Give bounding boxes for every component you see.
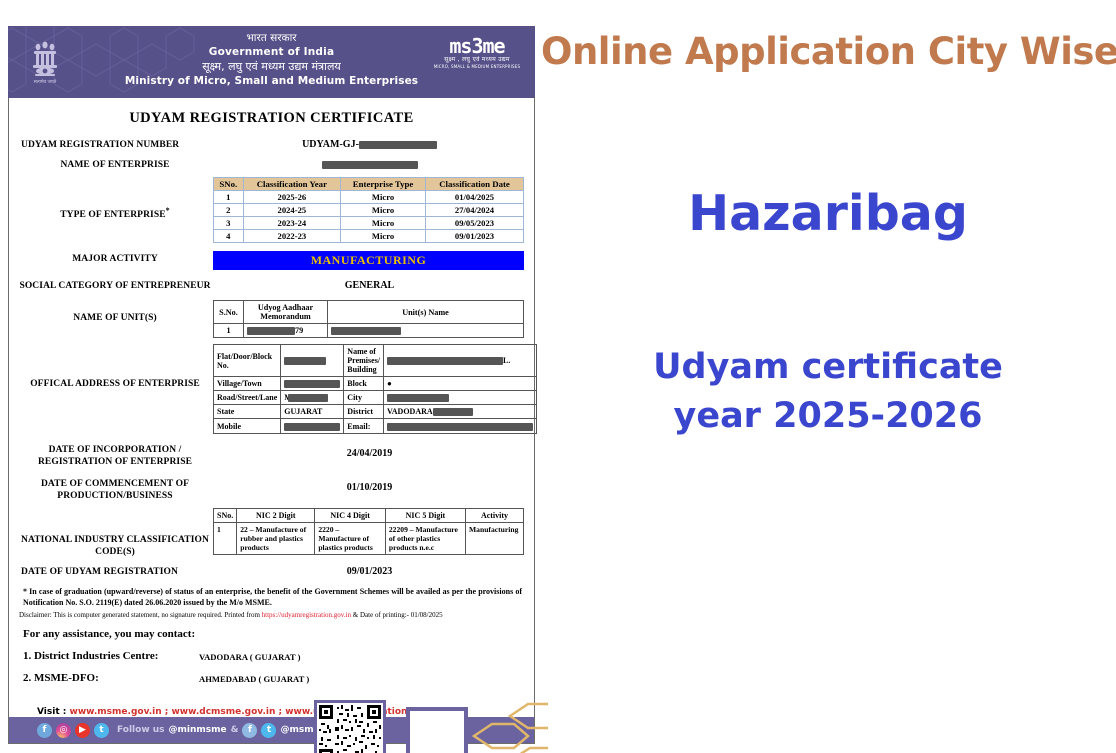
- field-date-incorporation: DATE OF INCORPORATION / REGISTRATION OF …: [17, 442, 526, 468]
- promo-panel: Online Application City Wise Hazaribag U…: [540, 0, 1116, 753]
- field-nic-codes: NATIONAL INDUSTRY CLASSIFICATION CODE(S)…: [17, 508, 526, 558]
- assistance-heading: For any assistance, you may contact:: [17, 620, 526, 640]
- name-of-enterprise-value: [213, 157, 526, 170]
- visit-link-2[interactable]: www.dcmsme.gov.in: [171, 707, 275, 717]
- col-nic-4: NIC 4 Digit: [315, 508, 386, 522]
- ampersand-text: &: [231, 725, 239, 735]
- redacted-value: [288, 394, 328, 402]
- col-unit-name: Unit(s) Name: [328, 301, 524, 324]
- visit-sep-2: ;: [275, 707, 285, 717]
- registration-number-label: UDYAM REGISTRATION NUMBER: [17, 137, 213, 151]
- address-table-wrap: Flat/Door/Block No. Name of Premises/ Bu…: [213, 344, 539, 433]
- social-category-value: GENERAL: [213, 278, 526, 291]
- table-row: 3 2023-24 Micro 09/05/2023: [214, 217, 524, 230]
- field-major-activity: MAJOR ACTIVITY MANUFACTURING: [17, 251, 526, 270]
- youtube-icon[interactable]: ▶: [75, 723, 90, 738]
- contact-dfo-label: 2. MSME-DFO:: [23, 672, 199, 684]
- col-sno: SNo.: [214, 508, 237, 522]
- gold-hexagon-decoration: [466, 702, 548, 753]
- field-name-of-units: NAME OF UNIT(S) S.No. Udyog Aadhaar Memo…: [17, 300, 526, 338]
- name-of-enterprise-label: NAME OF ENTERPRISE: [17, 157, 213, 171]
- date-udyam-registration-label: DATE OF UDYAM REGISTRATION: [17, 564, 213, 578]
- redacted-value: [322, 161, 418, 169]
- table-header-row: S.No. Udyog Aadhaar Memorandum Unit(s) N…: [214, 301, 524, 324]
- promo-subtitle-line-1: Udyam certificate: [540, 343, 1116, 392]
- cell-sno: 1: [214, 324, 244, 338]
- field-name-of-enterprise: NAME OF ENTERPRISE: [17, 157, 526, 171]
- page-root: सत्यमेव जयते भारत सरकार Government of In…: [0, 0, 1116, 753]
- udyam-certificate: सत्यमेव जयते भारत सरकार Government of In…: [8, 26, 535, 744]
- cell-sno: 1: [214, 522, 237, 554]
- msme-logo-hindi: सूक्ष्म , लघु एवं मध्यम उद्यम: [431, 56, 523, 64]
- redacted-value: [331, 327, 401, 335]
- cell-sno: 3: [214, 217, 244, 230]
- redacted-value: [284, 380, 340, 388]
- qr-code-icon: [317, 703, 383, 753]
- visit-prefix: Visit :: [37, 707, 70, 717]
- redacted-value: [433, 408, 473, 416]
- col-sno: S.No.: [214, 301, 244, 324]
- cell-uam: 79: [244, 324, 328, 338]
- promo-subtitle-line-2: year 2025-2026: [540, 392, 1116, 441]
- msme-logo-glyph: ms3me: [431, 36, 523, 56]
- disclaimer-suffix: & Date of printing:- 01/08/2025: [351, 611, 443, 619]
- addr-key-road: Road/Street/Lane: [214, 391, 281, 405]
- table-row: State GUJARAT District VADODARA - 45: [214, 405, 537, 419]
- facebook-icon[interactable]: f: [37, 723, 52, 738]
- col-nic-5: NIC 5 Digit: [385, 508, 465, 522]
- social-category-label: SOCIAL CATEGORY OF ENTREPRENEUR: [17, 278, 213, 292]
- cell-date: 27/04/2024: [426, 204, 524, 217]
- msme-logo-english: MICRO, SMALL & MEDIUM ENTERPRISES: [431, 64, 523, 70]
- facebook-icon[interactable]: f: [242, 723, 257, 738]
- field-type-of-enterprise: TYPE OF ENTERPRISE* SNo. Classification …: [17, 177, 526, 243]
- official-address-label: OFFICAL ADDRESS OF ENTERPRISE: [17, 344, 213, 390]
- cell-date: 01/04/2025: [426, 191, 524, 204]
- addr-key-mobile: Mobile: [214, 419, 281, 433]
- addr-key-flat: Flat/Door/Block No.: [214, 345, 281, 377]
- disclaimer-prefix: Disclaimer: This is computer generated s…: [19, 611, 262, 619]
- addr-key-state: State: [214, 405, 281, 419]
- table-row: Village/Town Block ●: [214, 377, 537, 391]
- table-row: Mobile Email:: [214, 419, 537, 433]
- twitter-icon[interactable]: t: [261, 723, 276, 738]
- table-row: Flat/Door/Block No. Name of Premises/ Bu…: [214, 345, 537, 377]
- field-date-commencement: DATE OF COMMENCEMENT OF PRODUCTION/BUSIN…: [17, 476, 526, 502]
- visit-link-1[interactable]: www.msme.gov.in: [70, 707, 162, 717]
- redacted-value: [284, 357, 326, 365]
- asterisk-marker: *: [166, 206, 170, 215]
- col-activity: Activity: [466, 508, 524, 522]
- visit-sep-1: ;: [162, 707, 172, 717]
- cell-sno: 4: [214, 230, 244, 243]
- name-of-units-label: NAME OF UNIT(S): [17, 300, 213, 324]
- promo-subtitle: Udyam certificate year 2025-2026: [540, 343, 1116, 441]
- field-date-udyam-registration: DATE OF UDYAM REGISTRATION 09/01/2023: [17, 564, 526, 578]
- contact-dfo-value: AHMEDABAD ( GUJARAT ): [199, 672, 309, 684]
- date-commencement-label: DATE OF COMMENCEMENT OF PRODUCTION/BUSIN…: [17, 476, 213, 502]
- table-row: 1 79: [214, 324, 524, 338]
- addr-val-village: [281, 377, 344, 391]
- follow-us-text: Follow us: [117, 725, 165, 735]
- cell-type: Micro: [341, 230, 426, 243]
- contact-dic: 1. District Industries Centre: VADODARA …: [17, 640, 526, 662]
- addr-key-city: City: [344, 391, 384, 405]
- address-table: Flat/Door/Block No. Name of Premises/ Bu…: [213, 344, 537, 433]
- cell-nic-5: 22209 – Manufacture of other plastics pr…: [385, 522, 465, 554]
- addr-val-city: [384, 391, 537, 405]
- cell-nic-2: 22 – Manufacture of rubber and plastics …: [237, 522, 315, 554]
- cell-type: Micro: [341, 204, 426, 217]
- redacted-value: [387, 394, 449, 402]
- cell-date: 09/05/2023: [426, 217, 524, 230]
- col-enterprise-type: Enterprise Type: [341, 178, 426, 191]
- classification-table-wrap: SNo. Classification Year Enterprise Type…: [213, 177, 526, 243]
- major-activity-label: MAJOR ACTIVITY: [17, 251, 213, 265]
- addr-val-premises: L.: [384, 345, 537, 377]
- type-of-enterprise-label: TYPE OF ENTERPRISE*: [17, 177, 213, 221]
- cell-type: Micro: [341, 191, 426, 204]
- table-header-row: SNo. NIC 2 Digit NIC 4 Digit NIC 5 Digit…: [214, 508, 524, 522]
- redacted-value: [284, 423, 340, 431]
- table-row: 1 22 – Manufacture of rubber and plastic…: [214, 522, 524, 554]
- date-udyam-registration-value: 09/01/2023: [213, 564, 526, 577]
- field-registration-number: UDYAM REGISTRATION NUMBER UDYAM-GJ-: [17, 137, 526, 151]
- addr-key-district: District: [344, 405, 384, 419]
- table-row: 1 2025-26 Micro 01/04/2025: [214, 191, 524, 204]
- cell-sno: 2: [214, 204, 244, 217]
- col-uam: Udyog Aadhaar Memorandum: [244, 301, 328, 324]
- disclaimer-link[interactable]: https://udyamregistration.gov.in: [262, 611, 351, 619]
- cell-date: 09/01/2023: [426, 230, 524, 243]
- cell-year: 2022-23: [243, 230, 341, 243]
- disclaimer-text: Disclaimer: This is computer generated s…: [17, 608, 526, 620]
- redacted-value: [359, 141, 437, 149]
- addr-val-road: M D: [281, 391, 344, 405]
- cell-sno: 1: [214, 191, 244, 204]
- date-incorporation-value: 24/04/2019: [213, 442, 526, 459]
- qr-code[interactable]: [314, 700, 386, 753]
- cell-year: 2024-25: [243, 204, 341, 217]
- addr-val-flat: [281, 345, 344, 377]
- certificate-header-band: सत्यमेव जयते भारत सरकार Government of In…: [8, 26, 535, 98]
- certificate-title: UDYAM REGISTRATION CERTIFICATE: [17, 110, 526, 127]
- msme-logo: ms3me सूक्ष्म , लघु एवं मध्यम उद्यम MICR…: [431, 36, 523, 70]
- field-official-address: OFFICAL ADDRESS OF ENTERPRISE Flat/Door/…: [17, 344, 526, 433]
- handle-minmsme[interactable]: @minmsme: [169, 725, 227, 735]
- table-row: 4 2022-23 Micro 09/01/2023: [214, 230, 524, 243]
- redacted-value: [247, 327, 295, 335]
- cell-activity: Manufacturing: [466, 522, 524, 554]
- table-row: 2 2024-25 Micro 27/04/2024: [214, 204, 524, 217]
- contact-dic-label: 1. District Industries Centre:: [23, 650, 199, 662]
- promo-city-name: Hazaribag: [540, 185, 1116, 242]
- redacted-value: [387, 423, 533, 431]
- addr-key-email: Email:: [344, 419, 384, 433]
- blank-placeholder-box: [406, 707, 468, 753]
- instagram-icon[interactable]: ◎: [56, 723, 71, 738]
- col-classification-year: Classification Year: [243, 178, 341, 191]
- promo-title: Online Application City Wise: [541, 30, 1116, 73]
- col-nic-2: NIC 2 Digit: [237, 508, 315, 522]
- cell-year: 2025-26: [243, 191, 341, 204]
- header-line-english-2: Ministry of Micro, Small and Medium Ente…: [8, 74, 535, 88]
- addr-val-district: VADODARA - 45: [384, 405, 537, 419]
- units-table-wrap: S.No. Udyog Aadhaar Memorandum Unit(s) N…: [213, 300, 526, 338]
- registration-number-value: UDYAM-GJ-: [213, 137, 526, 150]
- addr-val-email: [384, 419, 537, 433]
- addr-val-mobile: [281, 419, 344, 433]
- addr-val-block: ●: [384, 377, 537, 391]
- major-activity-banner: MANUFACTURING: [213, 251, 524, 270]
- nic-table-wrap: SNo. NIC 2 Digit NIC 4 Digit NIC 5 Digit…: [213, 508, 526, 555]
- contact-dfo: 2. MSME-DFO: AHMEDABAD ( GUJARAT ): [17, 662, 526, 684]
- addr-val-state: GUJARAT: [281, 405, 344, 419]
- units-table: S.No. Udyog Aadhaar Memorandum Unit(s) N…: [213, 300, 524, 338]
- col-classification-date: Classification Date: [426, 178, 524, 191]
- twitter-icon[interactable]: t: [94, 723, 109, 738]
- date-commencement-value: 01/10/2019: [213, 476, 526, 493]
- cell-unit-name: [328, 324, 524, 338]
- classification-table: SNo. Classification Year Enterprise Type…: [213, 177, 524, 243]
- contact-dic-value: VADODARA ( GUJARAT ): [199, 650, 300, 662]
- table-header-row: SNo. Classification Year Enterprise Type…: [214, 178, 524, 191]
- redacted-value: [387, 357, 503, 365]
- addr-key-premises: Name of Premises/ Building: [344, 345, 384, 377]
- addr-key-village: Village/Town: [214, 377, 281, 391]
- graduation-footnote: * In case of graduation (upward/reverse)…: [17, 584, 526, 608]
- date-incorporation-label: DATE OF INCORPORATION / REGISTRATION OF …: [17, 442, 213, 468]
- nic-label: NATIONAL INDUSTRY CLASSIFICATION CODE(S): [17, 508, 213, 558]
- nic-table: SNo. NIC 2 Digit NIC 4 Digit NIC 5 Digit…: [213, 508, 524, 555]
- addr-key-block: Block: [344, 377, 384, 391]
- col-sno: SNo.: [214, 178, 244, 191]
- cell-year: 2023-24: [243, 217, 341, 230]
- table-row: Road/Street/Lane M D City: [214, 391, 537, 405]
- cell-nic-4: 2220 – Manufacture of plastics products: [315, 522, 386, 554]
- field-social-category: SOCIAL CATEGORY OF ENTREPRENEUR GENERAL: [17, 278, 526, 292]
- certificate-body: UDYAM REGISTRATION CERTIFICATE UDYAM REG…: [8, 98, 535, 744]
- cell-type: Micro: [341, 217, 426, 230]
